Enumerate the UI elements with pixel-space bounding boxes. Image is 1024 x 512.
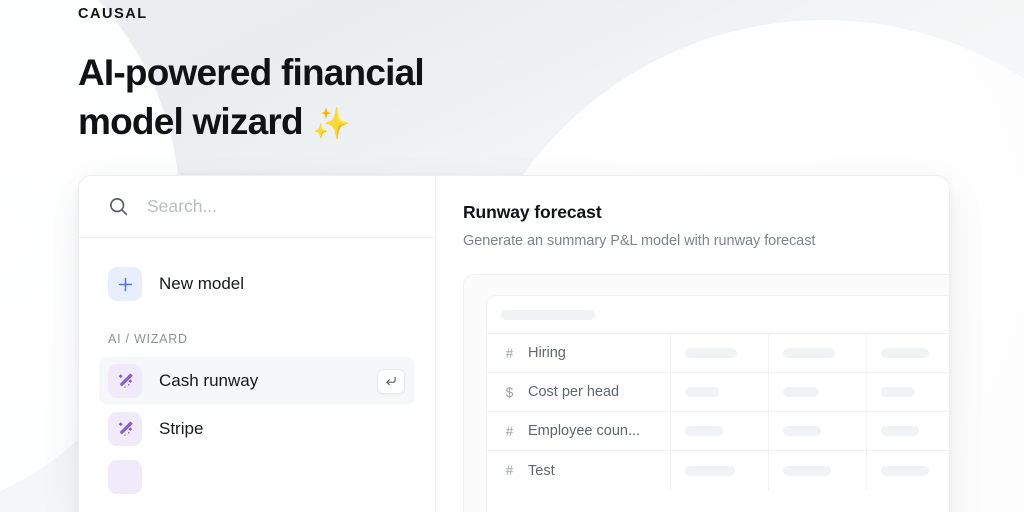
cell-value[interactable] (769, 334, 867, 372)
table-row[interactable]: #Test (487, 451, 949, 490)
search-icon (108, 196, 129, 217)
search-input[interactable] (147, 196, 406, 217)
cell-label: Hiring (528, 345, 566, 361)
value-skeleton (881, 387, 915, 397)
preview-sheet: #Hiring$Cost per head#Employee coun...#T… (486, 295, 949, 512)
sidebar: New model AI / WIZARD Cash runway (79, 176, 436, 512)
sidebar-body: New model AI / WIZARD Cash runway (79, 238, 435, 512)
value-skeleton (685, 348, 737, 358)
value-skeleton (783, 387, 819, 397)
cell-value[interactable] (671, 412, 769, 450)
cell-variable-name[interactable]: #Hiring (487, 334, 671, 372)
cell-value[interactable] (867, 334, 949, 372)
cell-label: Employee coun... (528, 423, 640, 439)
pane-title: Runway forecast (463, 202, 949, 223)
sidebar-item-new-model[interactable]: New model (99, 260, 415, 308)
cell-label: Test (528, 463, 555, 479)
value-skeleton (685, 387, 719, 397)
sidebar-item-stripe[interactable]: Stripe (99, 405, 415, 453)
table-row[interactable]: #Hiring (487, 334, 949, 373)
header-skeleton (501, 310, 595, 320)
page-title: AI-powered financial model wizard ✨ (78, 48, 718, 148)
value-skeleton (685, 426, 723, 436)
cell-variable-name[interactable]: #Employee coun... (487, 412, 671, 450)
cell-value[interactable] (671, 373, 769, 411)
enter-key-badge[interactable] (377, 369, 405, 394)
magic-wand-icon (108, 412, 142, 446)
page-title-line1: AI-powered financial (78, 52, 424, 93)
app-window: New model AI / WIZARD Cash runway (78, 175, 950, 512)
cell-variable-name[interactable]: $Cost per head (487, 373, 671, 411)
sidebar-item-cash-runway[interactable]: Cash runway (99, 357, 415, 405)
detail-pane: Runway forecast Generate an summary P&L … (436, 176, 949, 512)
magic-wand-icon (108, 364, 142, 398)
cell-value[interactable] (867, 412, 949, 450)
search-bar[interactable] (79, 176, 435, 238)
value-skeleton (881, 348, 929, 358)
page-root: CAUSAL AI-powered financial model wizard… (0, 0, 1024, 512)
sheet-header-row (487, 296, 949, 334)
number-type-icon: # (504, 346, 515, 361)
value-skeleton (783, 426, 821, 436)
table-row[interactable]: #Employee coun... (487, 412, 949, 451)
sidebar-item-label: New model (159, 274, 405, 294)
cell-value[interactable] (769, 373, 867, 411)
magic-wand-icon (108, 460, 142, 494)
value-skeleton (881, 426, 919, 436)
plus-icon (108, 267, 142, 301)
sidebar-section-title: AI / WIZARD (99, 332, 415, 346)
value-skeleton (685, 466, 735, 476)
cell-label: Cost per head (528, 384, 619, 400)
cell-value[interactable] (769, 412, 867, 450)
number-type-icon: # (504, 424, 515, 439)
cell-variable-name[interactable]: #Test (487, 451, 671, 490)
sidebar-item-label: Stripe (159, 419, 405, 439)
brand-logo: CAUSAL (78, 6, 148, 22)
number-type-icon: # (504, 463, 515, 478)
table-row[interactable]: $Cost per head (487, 373, 949, 412)
value-skeleton (783, 466, 831, 476)
page-title-line2: model wizard (78, 101, 312, 142)
value-skeleton (881, 466, 929, 476)
cell-value[interactable] (867, 373, 949, 411)
sidebar-item-partial[interactable] (99, 453, 415, 501)
value-skeleton (783, 348, 835, 358)
pane-subtitle: Generate an summary P&L model with runwa… (463, 233, 949, 249)
cell-value[interactable] (867, 451, 949, 490)
cell-value[interactable] (671, 334, 769, 372)
sidebar-item-label: Cash runway (159, 371, 360, 391)
cell-value[interactable] (769, 451, 867, 490)
currency-type-icon: $ (504, 385, 515, 400)
sparkles-icon: ✨ (312, 106, 351, 141)
model-preview-frame: #Hiring$Cost per head#Employee coun...#T… (463, 274, 949, 512)
cell-value[interactable] (671, 451, 769, 490)
sheet-rows: #Hiring$Cost per head#Employee coun...#T… (487, 334, 949, 490)
